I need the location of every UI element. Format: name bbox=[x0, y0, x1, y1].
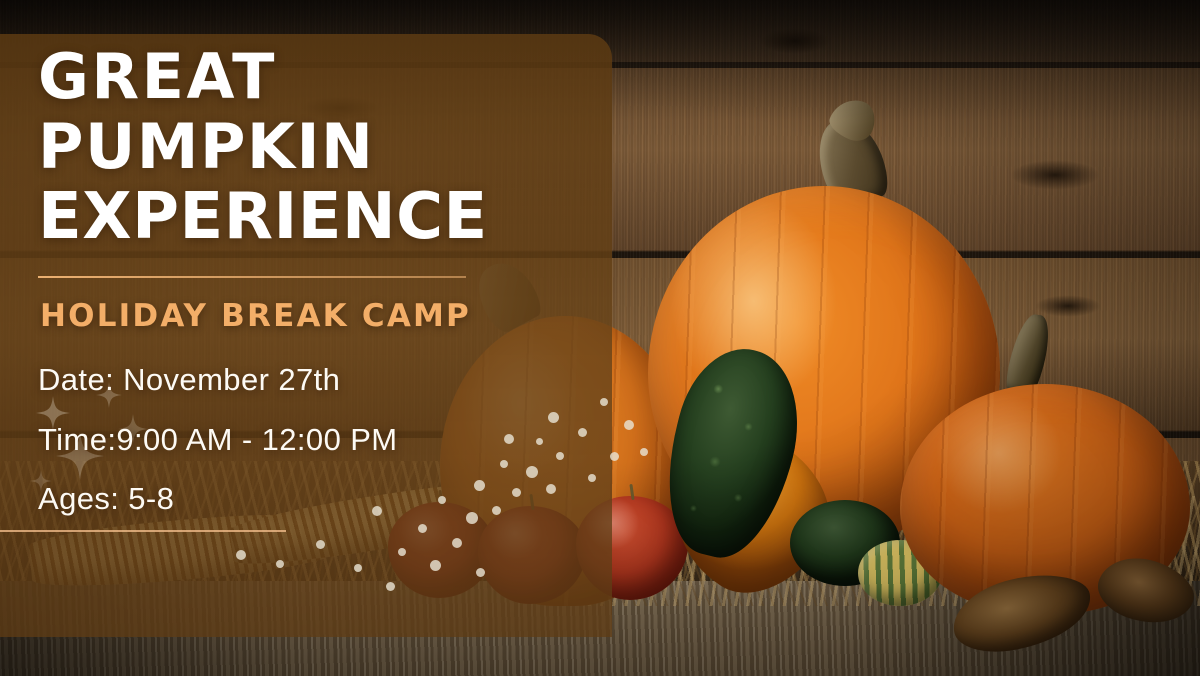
wood-knot bbox=[1010, 160, 1100, 190]
poster-text-content: GREAT PUMPKIN EXPERIENCE HOLIDAY BREAK C… bbox=[0, 0, 612, 676]
detail-date: Date: November 27th bbox=[38, 362, 340, 398]
wood-knot bbox=[760, 28, 830, 54]
title-line-1: GREAT bbox=[38, 42, 638, 112]
poster-subtitle: HOLIDAY BREAK CAMP bbox=[40, 298, 471, 334]
title-line-2: PUMPKIN bbox=[38, 112, 638, 182]
detail-time: Time:9:00 AM - 12:00 PM bbox=[38, 422, 398, 458]
page-title: GREAT PUMPKIN EXPERIENCE bbox=[38, 42, 638, 252]
pumpkin-event-poster: GREAT PUMPKIN EXPERIENCE HOLIDAY BREAK C… bbox=[0, 0, 1200, 676]
wood-knot bbox=[1035, 295, 1101, 317]
title-line-3: EXPERIENCE bbox=[38, 182, 638, 252]
detail-ages: Ages: 5-8 bbox=[38, 481, 174, 517]
